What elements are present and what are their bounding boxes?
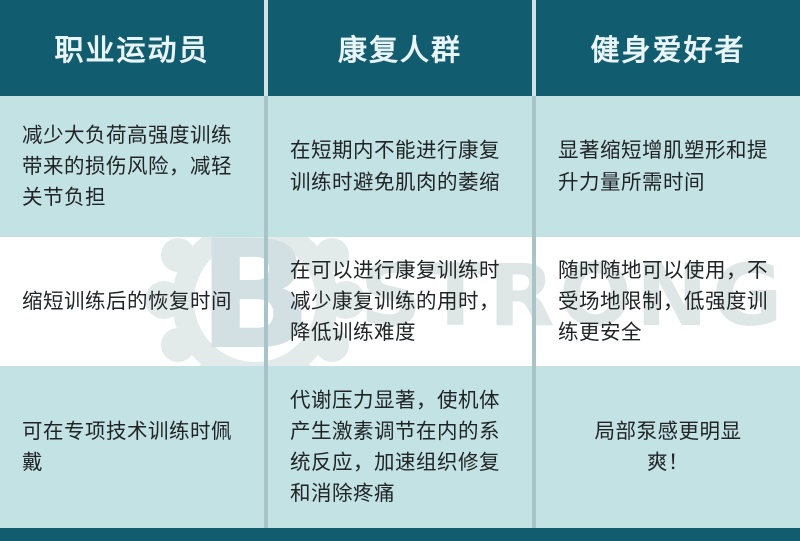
cell-text: 在可以进行康复训练时减少康复训练的用时，降低训练难度 xyxy=(290,255,510,348)
cell-text: 代谢压力显著，使机体产生激素调节在内的系统反应，加速组织修复和消除疼痛 xyxy=(290,385,510,510)
column-header-pro-athletes: 职业运动员 xyxy=(0,0,268,96)
table-cell: 可在专项技术训练时佩戴 xyxy=(0,366,268,528)
table-cell: 在可以进行康复训练时减少康复训练的用时，降低训练难度 xyxy=(268,237,536,366)
cell-text: 可在专项技术训练时佩戴 xyxy=(22,416,242,478)
table-grid: 职业运动员 康复人群 健身爱好者 减少大负荷高强度训练带来的损伤风险，减轻关节负… xyxy=(0,0,800,541)
table-cell: 显著缩短增肌塑形和提升力量所需时间 xyxy=(536,96,800,237)
table-cell: 代谢压力显著，使机体产生激素调节在内的系统反应，加速组织修复和消除疼痛 xyxy=(268,366,536,528)
column-header-rehab-group: 康复人群 xyxy=(268,0,536,96)
cell-text: 在短期内不能进行康复训练时避免肌肉的萎缩 xyxy=(290,135,510,197)
column-header-label: 职业运动员 xyxy=(54,27,209,69)
table-cell: 局部泵感更明显 爽！ xyxy=(536,366,800,528)
cell-text: 局部泵感更明显 爽！ xyxy=(595,416,742,478)
column-header-label: 健身爱好者 xyxy=(590,27,745,69)
cell-text: 随时随地可以使用，不受场地限制，低强度训练更安全 xyxy=(558,255,778,348)
table-cell: 在短期内不能进行康复训练时避免肌肉的萎缩 xyxy=(268,96,536,237)
footer-accent-bar xyxy=(0,528,800,541)
column-header-label: 康复人群 xyxy=(338,27,462,69)
cell-text: 显著缩短增肌塑形和提升力量所需时间 xyxy=(558,135,778,197)
table-cell: 减少大负荷高强度训练带来的损伤风险，减轻关节负担 xyxy=(0,96,268,237)
comparison-table: B STRONG 职业运动员 康复人群 健身爱好者 减少大负荷高强度训练带来的损… xyxy=(0,0,800,541)
cell-text: 减少大负荷高强度训练带来的损伤风险，减轻关节负担 xyxy=(22,120,242,213)
table-cell: 随时随地可以使用，不受场地限制，低强度训练更安全 xyxy=(536,237,800,366)
cell-text: 缩短训练后的恢复时间 xyxy=(22,286,242,317)
table-cell: 缩短训练后的恢复时间 xyxy=(0,237,268,366)
column-header-fitness-enthusiasts: 健身爱好者 xyxy=(536,0,800,96)
